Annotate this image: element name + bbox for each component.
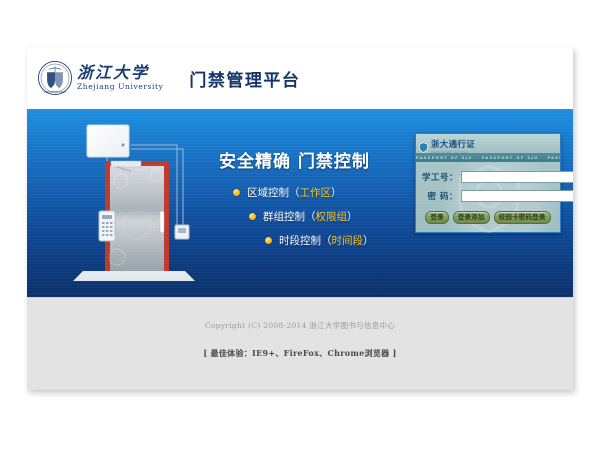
svg-text:ZHEJIANG UNIV: ZHEJIANG UNIV [44, 91, 66, 94]
feature-label: 区域控制（ [247, 185, 300, 200]
login-panel-titlebar: 浙大通行证 PASSPORT OF ZJU [416, 134, 560, 153]
login-brand: 浙大通行证 PASSPORT OF ZJU [419, 132, 475, 155]
login-panel: 浙大通行证 PASSPORT OF ZJU PASSPORT OF ZJU PA… [415, 133, 561, 233]
feature-highlight: 权限组 [316, 209, 348, 224]
username-field-row: 学工号： [422, 171, 554, 183]
feature-highlight: 时间段 [332, 233, 364, 248]
list-item: 群组控制（ 权限组 ） [219, 209, 429, 224]
login-title: 浙大通行证 [431, 140, 475, 150]
login-button[interactable]: 登录 [425, 211, 448, 224]
feature-label: 时段控制（ [279, 233, 332, 248]
username-input[interactable] [461, 171, 573, 183]
bullet-dot-icon [265, 237, 272, 244]
hero-banner: 安全精确 门禁控制 区域控制（ 工作区 ） 群组控制（ 权限组 ） 时段控制（ [27, 109, 573, 297]
password-field-row: 密 码： [422, 190, 554, 202]
feature-list: 区域控制（ 工作区 ） 群组控制（ 权限组 ） 时段控制（ 时间段 ） [219, 185, 429, 248]
strip-text: PASSPORT OF ZJU [547, 156, 560, 160]
copyright-text: Copyright (C) 2008-2014 浙江大学图书与信息中心 [205, 320, 395, 331]
login-button-row: 登录 登录添加 校园卡密码登录 [422, 211, 554, 224]
feature-tail: ） [363, 233, 374, 248]
bullet-dot-icon [249, 213, 256, 220]
page-title: 门禁管理平台 [189, 66, 300, 91]
username-label: 学工号： [422, 171, 461, 183]
logo-wordmark: 浙江大学 Zhejiang University [77, 65, 163, 92]
password-input[interactable] [461, 190, 573, 202]
login-form: 学工号： 密 码： 登录 登录添加 校园卡密码登录 [416, 162, 560, 232]
list-item: 区域控制（ 工作区 ） [219, 185, 429, 200]
banner-headline: 安全精确 门禁控制 [219, 147, 429, 172]
zhejiang-university-seal-icon: ZHEJIANG UNIV [37, 60, 73, 96]
feature-tail: ） [347, 209, 358, 224]
strip-text: PASSPORT OF ZJU [416, 156, 482, 160]
list-item: 时段控制（ 时间段 ） [219, 233, 429, 248]
feature-highlight: 工作区 [300, 185, 332, 200]
browser-compatibility-note: [ 最佳体验：IE9+、FireFox、Chrome浏览器 ] [203, 348, 396, 359]
site-footer: Copyright (C) 2008-2014 浙江大学图书与信息中心 [ 最佳… [27, 297, 573, 390]
logo-chinese-name: 浙江大学 [77, 65, 163, 82]
shield-icon [419, 138, 428, 149]
banner-pitch: 安全精确 门禁控制 区域控制（ 工作区 ） 群组控制（ 权限组 ） 时段控制（ [219, 147, 429, 257]
logo-english-name: Zhejiang University [77, 82, 163, 91]
bullet-dot-icon [233, 189, 240, 196]
password-label: 密 码： [422, 190, 461, 202]
campus-card-login-button[interactable]: 校园卡密码登录 [494, 211, 551, 224]
login-add-button[interactable]: 登录添加 [453, 211, 490, 224]
site-header: ZHEJIANG UNIV 浙江大学 Zhejiang University 门… [27, 47, 573, 109]
feature-tail: ） [331, 185, 342, 200]
strip-text: PASSPORT OF ZJU [482, 156, 548, 160]
access-control-door-illustration [65, 115, 205, 291]
page-container: ZHEJIANG UNIV 浙江大学 Zhejiang University 门… [27, 47, 573, 390]
feature-label: 群组控制（ [263, 209, 316, 224]
